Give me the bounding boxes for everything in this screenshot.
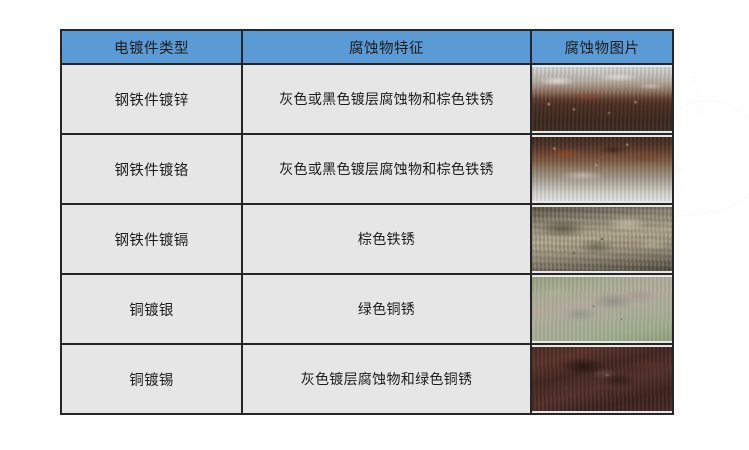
- column-header-plating-type: 电镀件类型: [61, 30, 242, 64]
- photo-texture-overlay: [532, 277, 672, 341]
- corrosion-photo-copper-tin: [532, 347, 672, 411]
- cell-corrosion-feature: 绿色铜锈: [242, 274, 531, 344]
- cell-corrosion-photo: [531, 344, 673, 414]
- corrosion-table: 电镀件类型 腐蚀物特征 腐蚀物图片 钢铁件镀锌 灰色或黑色镀层腐蚀物和棕色铁锈 …: [60, 29, 674, 415]
- corrosion-photo-copper-silver: [532, 277, 672, 341]
- cell-plating-type: 钢铁件镀镉: [61, 204, 242, 274]
- table-header-row: 电镀件类型 腐蚀物特征 腐蚀物图片: [61, 30, 673, 64]
- watermark-text: o.com: [689, 75, 719, 166]
- table-row: 钢铁件镀铬 灰色或黑色镀层腐蚀物和棕色铁锈: [61, 134, 673, 204]
- corrosion-photo-steel-chrome: [532, 137, 672, 201]
- cell-corrosion-photo: [531, 64, 673, 134]
- table-row: 钢铁件镀镉 棕色铁锈: [61, 204, 673, 274]
- photo-texture-overlay: [532, 67, 672, 131]
- table-row: 铜镀银 绿色铜锈: [61, 274, 673, 344]
- cell-plating-type: 钢铁件镀铬: [61, 134, 242, 204]
- column-header-corrosion-photo: 腐蚀物图片: [531, 30, 673, 64]
- cell-corrosion-photo: [531, 134, 673, 204]
- cell-corrosion-feature: 灰色镀层腐蚀物和绿色铜锈: [242, 344, 531, 414]
- cell-corrosion-photo: [531, 204, 673, 274]
- cell-plating-type: 铜镀银: [61, 274, 242, 344]
- cell-corrosion-feature: 灰色或黑色镀层腐蚀物和棕色铁锈: [242, 64, 531, 134]
- table-row: 钢铁件镀锌 灰色或黑色镀层腐蚀物和棕色铁锈: [61, 64, 673, 134]
- cell-corrosion-feature: 灰色或黑色镀层腐蚀物和棕色铁锈: [242, 134, 531, 204]
- photo-texture-overlay: [532, 137, 672, 201]
- corrosion-photo-steel-zinc: [532, 67, 672, 131]
- table-body: 钢铁件镀锌 灰色或黑色镀层腐蚀物和棕色铁锈 钢铁件镀铬 灰色或黑色镀层腐蚀物和棕…: [61, 64, 673, 414]
- cell-corrosion-feature: 棕色铁锈: [242, 204, 531, 274]
- table-row: 铜镀锡 灰色镀层腐蚀物和绿色铜锈: [61, 344, 673, 414]
- cell-plating-type: 铜镀锡: [61, 344, 242, 414]
- photo-texture-overlay: [532, 207, 672, 271]
- cell-corrosion-photo: [531, 274, 673, 344]
- cell-plating-type: 钢铁件镀锌: [61, 64, 242, 134]
- table-header: 电镀件类型 腐蚀物特征 腐蚀物图片: [61, 30, 673, 64]
- corrosion-photo-steel-cadmium: [532, 207, 672, 271]
- photo-texture-overlay: [532, 347, 672, 411]
- column-header-corrosion-feature: 腐蚀物特征: [242, 30, 531, 64]
